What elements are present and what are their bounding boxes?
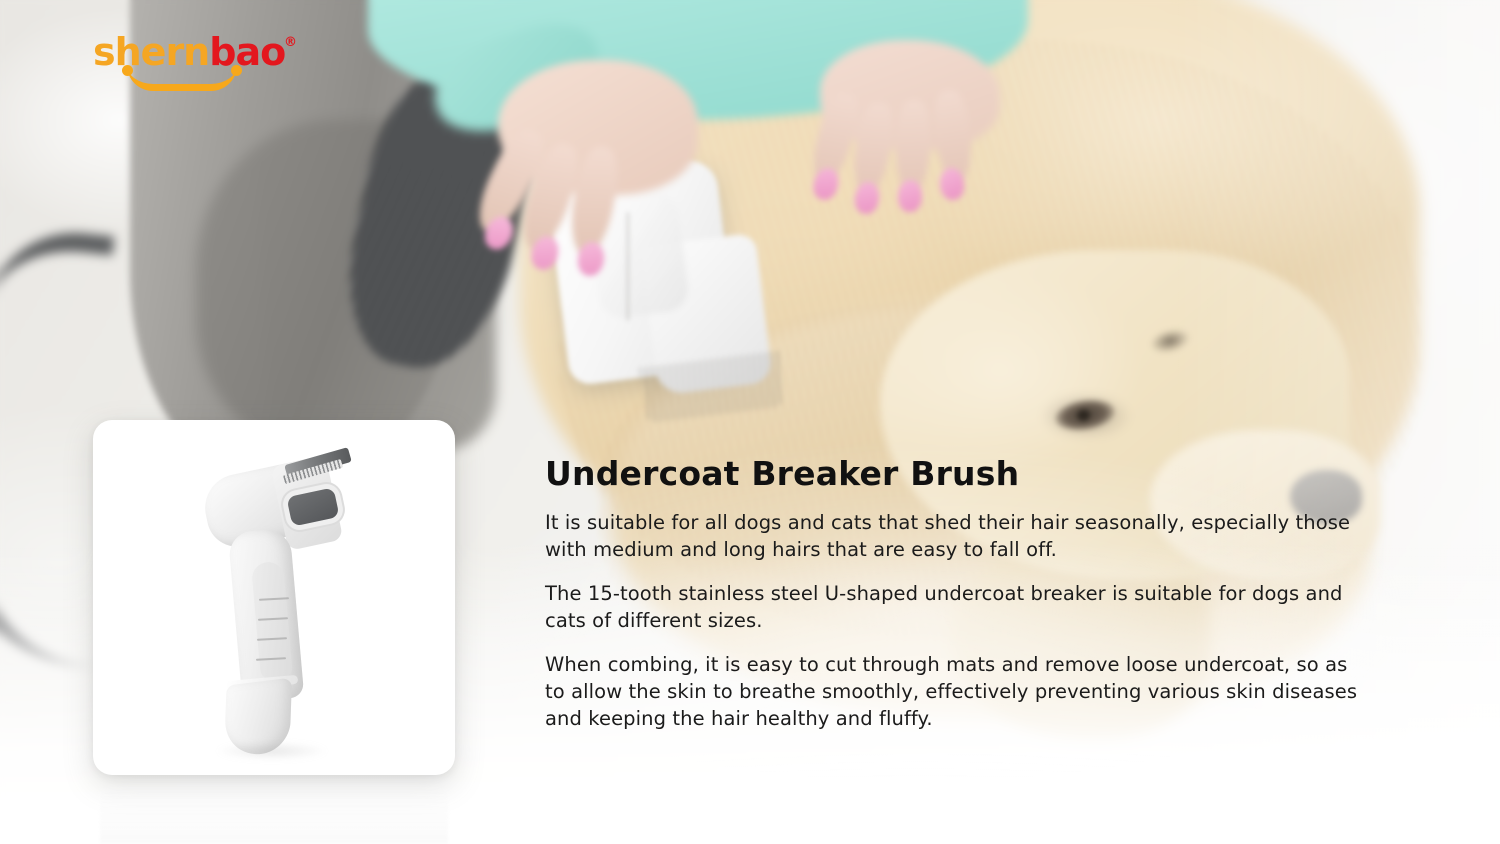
page-title: Undercoat Breaker Brush bbox=[545, 455, 1385, 493]
description-paragraph-3: When combing, it is easy to cut through … bbox=[545, 651, 1373, 732]
brand-logo[interactable]: shernbao ® bbox=[93, 33, 293, 95]
marketing-banner: shernbao ® Undercoat Breaker Brush It is… bbox=[0, 0, 1500, 844]
description-paragraph-2: The 15-tooth stainless steel U-shaped un… bbox=[545, 580, 1373, 634]
product-illustration bbox=[93, 420, 455, 775]
product-description-block: Undercoat Breaker Brush It is suitable f… bbox=[545, 455, 1385, 732]
description-paragraph-1: It is suitable for all dogs and cats tha… bbox=[545, 509, 1373, 563]
product-drop-shadow bbox=[217, 742, 327, 760]
product-card-reflection bbox=[100, 782, 448, 844]
registered-trademark-icon: ® bbox=[284, 35, 297, 50]
product-image-card[interactable] bbox=[93, 420, 455, 775]
smile-swoosh-icon bbox=[127, 65, 237, 91]
